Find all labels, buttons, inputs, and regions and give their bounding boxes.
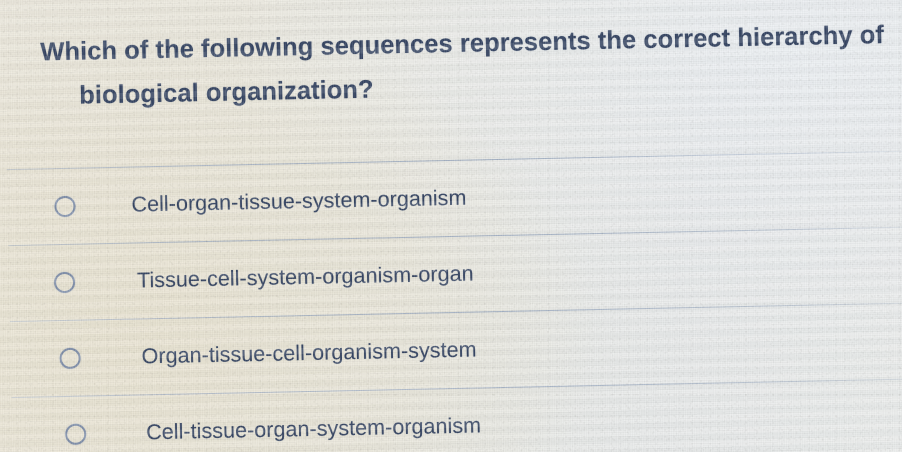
radio-cell-a[interactable] xyxy=(0,194,130,218)
radio-button-icon[interactable] xyxy=(64,423,85,444)
answer-options-list: Cell-organ-tissue-system-organism Tissue… xyxy=(0,151,902,452)
radio-cell-c[interactable] xyxy=(4,346,134,370)
radio-button-icon[interactable] xyxy=(59,347,80,368)
option-divider xyxy=(7,151,902,170)
answer-option-label-b: Tissue-cell-system-organism-organ xyxy=(137,261,474,293)
radio-cell-d[interactable] xyxy=(10,422,140,446)
quiz-content-plane: Which of the following sequences represe… xyxy=(0,0,902,452)
question-photo-frame: Which of the following sequences represe… xyxy=(0,0,902,452)
question-text: Which of the following sequences represe… xyxy=(40,13,872,118)
answer-option-label-d: Cell-tissue-organ-system-organism xyxy=(146,413,481,445)
answer-option-label-a: Cell-organ-tissue-system-organism xyxy=(131,185,466,217)
radio-cell-b[interactable] xyxy=(0,270,129,294)
radio-button-icon[interactable] xyxy=(54,195,75,216)
answer-option-label-c: Organ-tissue-cell-organism-system xyxy=(141,337,476,369)
radio-button-icon[interactable] xyxy=(53,271,74,292)
